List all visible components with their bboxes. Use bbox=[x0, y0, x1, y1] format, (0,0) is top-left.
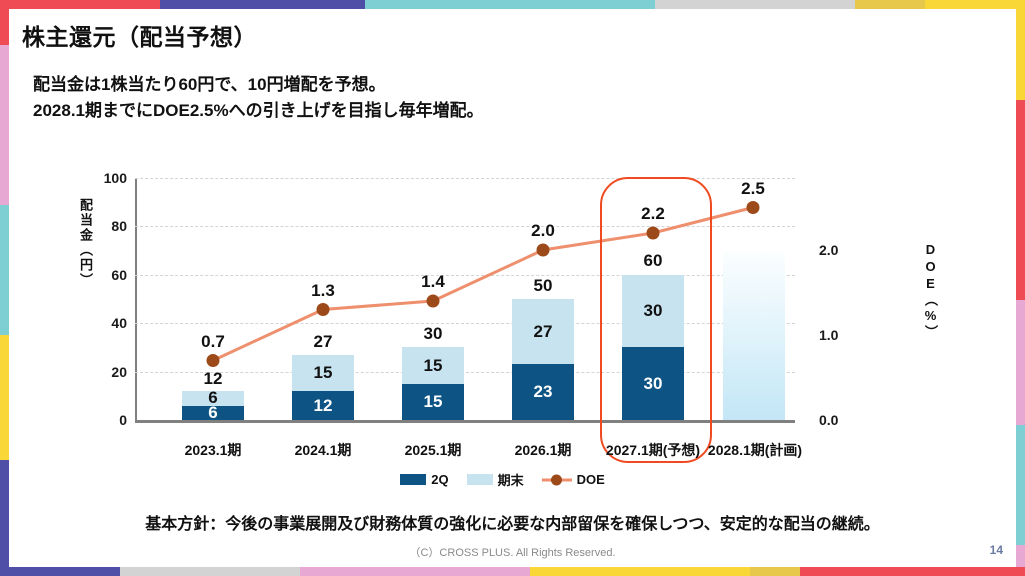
basic-policy-text: 基本方針：今後の事業展開及び財務体質の強化に必要な内部留保を確保しつつ、安定的な… bbox=[0, 510, 1025, 534]
legend-label: DOE bbox=[577, 472, 605, 487]
gridline bbox=[135, 275, 795, 276]
y2-tick-label: 2.0 bbox=[819, 242, 838, 258]
x-tick-label: 2025.1期 bbox=[405, 440, 462, 460]
legend-item-doe: DOE bbox=[542, 472, 605, 487]
gridline bbox=[135, 178, 795, 179]
legend-item-2q: 2Q bbox=[400, 472, 448, 487]
page-number: 14 bbox=[990, 543, 1003, 557]
bar-segment-plan bbox=[723, 251, 785, 420]
x-tick-label: 2027.1期(予想) bbox=[606, 440, 700, 460]
bar-segment-2q: 23 bbox=[512, 364, 574, 420]
bar-segment-year-end: 15 bbox=[292, 355, 354, 391]
bar-segment-2q: 30 bbox=[622, 347, 684, 420]
x-tick-label: 2023.1期 bbox=[185, 440, 242, 460]
doe-value-label: 1.4 bbox=[421, 272, 445, 292]
x-tick-label: 2026.1期 bbox=[515, 440, 572, 460]
legend-swatch-doe bbox=[542, 474, 572, 486]
y-tick-label: 100 bbox=[104, 170, 127, 186]
bar-total-label: 12 bbox=[174, 369, 252, 389]
segment-value-label: 15 bbox=[402, 356, 464, 376]
dividend-chart: 配当金（円） DOE（%） 100 80 60 40 20 0 2.0 1.0 … bbox=[60, 170, 965, 480]
subtitle-text: 配当金は1株当たり60円で、10円増配を予想。 2028.1期までにDOE2.5… bbox=[33, 72, 484, 123]
segment-value-label: 23 bbox=[512, 382, 574, 402]
bar-total-label: 30 bbox=[394, 324, 472, 344]
bar-total-label: 50 bbox=[504, 276, 582, 296]
copyright-text: （C）CROSS PLUS. All Rights Reserved. bbox=[0, 544, 1025, 560]
segment-value-label: 15 bbox=[292, 363, 354, 383]
doe-value-label: 2.5 bbox=[741, 179, 765, 199]
legend-swatch-2q bbox=[400, 474, 426, 485]
bar-segment-year-end: 30 bbox=[622, 275, 684, 348]
y-axis-title: 配当金（円） bbox=[70, 198, 92, 288]
doe-marker bbox=[647, 227, 660, 240]
bar-segment-2q: 12 bbox=[292, 391, 354, 420]
segment-value-label: 27 bbox=[512, 322, 574, 342]
y-tick-label: 80 bbox=[111, 218, 127, 234]
bar-total-label: 60 bbox=[614, 251, 692, 271]
y-tick-label: 0 bbox=[119, 412, 127, 428]
chart-legend: 2Q 期末 DOE bbox=[135, 470, 870, 489]
y2-axis-title: DOE（%） bbox=[915, 242, 937, 340]
gridline bbox=[135, 226, 795, 227]
bar-total-label: 27 bbox=[284, 332, 362, 352]
legend-label: 2Q bbox=[431, 472, 448, 487]
y-tick-label: 60 bbox=[111, 267, 127, 283]
bar-segment-2q: 15 bbox=[402, 384, 464, 420]
segment-value-label: 30 bbox=[622, 374, 684, 394]
page-title: 株主還元（配当予想） bbox=[22, 18, 257, 52]
doe-marker bbox=[207, 354, 220, 367]
legend-label: 期末 bbox=[498, 470, 524, 489]
legend-item-year-end: 期末 bbox=[467, 470, 524, 489]
segment-value-label: 6 bbox=[182, 403, 244, 423]
plot-area: 100 80 60 40 20 0 2.0 1.0 0.0 12 6 6 bbox=[135, 178, 795, 420]
bar-segment-year-end: 27 bbox=[512, 299, 574, 364]
slide-root: 株主還元（配当予想） 配当金は1株当たり60円で、10円増配を予想。 2028.… bbox=[0, 0, 1025, 576]
y-axis-line bbox=[135, 178, 137, 420]
legend-marker-dot bbox=[551, 474, 562, 485]
doe-marker bbox=[537, 244, 550, 257]
bar-segment-year-end: 15 bbox=[402, 347, 464, 383]
y2-tick-label: 0.0 bbox=[819, 412, 838, 428]
x-tick-label: 2028.1期(計画) bbox=[708, 440, 802, 460]
x-tick-label: 2024.1期 bbox=[295, 440, 352, 460]
y-tick-label: 20 bbox=[111, 364, 127, 380]
doe-value-label: 2.2 bbox=[641, 204, 665, 224]
doe-marker bbox=[317, 303, 330, 316]
doe-value-label: 0.7 bbox=[201, 332, 225, 352]
y-tick-label: 40 bbox=[111, 315, 127, 331]
bar-segment-2q: 6 bbox=[182, 406, 244, 421]
doe-marker bbox=[427, 295, 440, 308]
segment-value-label: 12 bbox=[292, 396, 354, 416]
doe-marker bbox=[747, 201, 760, 214]
segment-value-label: 30 bbox=[622, 301, 684, 321]
segment-value-label: 15 bbox=[402, 392, 464, 412]
doe-value-label: 2.0 bbox=[531, 221, 555, 241]
legend-swatch-year-end bbox=[467, 474, 493, 485]
y2-tick-label: 1.0 bbox=[819, 327, 838, 343]
doe-value-label: 1.3 bbox=[311, 281, 335, 301]
